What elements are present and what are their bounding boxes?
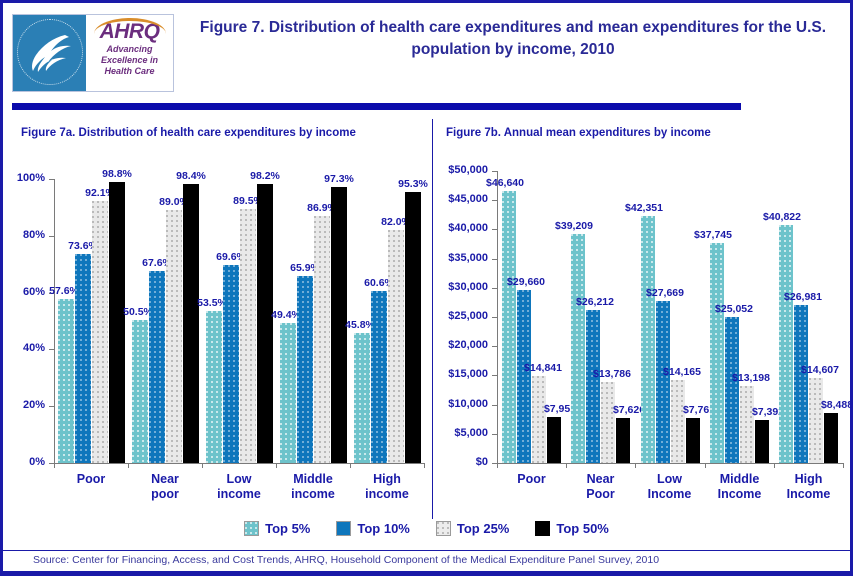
bar-value-label: $39,209	[547, 220, 601, 232]
y-axis-tick-label: $50,000	[435, 164, 488, 176]
bar	[280, 323, 296, 463]
bar	[314, 216, 330, 463]
legend-item: Top 50%	[535, 521, 609, 536]
bar	[824, 413, 838, 463]
y-axis-tick-label: $35,000	[435, 252, 488, 264]
x-axis-category-label: Middleincome	[276, 472, 350, 502]
bar	[671, 380, 685, 463]
y-axis-line	[54, 179, 55, 463]
legend-label: Top 10%	[357, 521, 410, 536]
y-axis-tick-label: $5,000	[435, 427, 488, 439]
bar	[166, 210, 182, 463]
y-axis-tick	[492, 200, 497, 201]
bar	[686, 418, 700, 463]
x-axis-tick	[350, 463, 351, 468]
bar	[149, 271, 165, 463]
y-axis-tick-label: 80%	[12, 229, 45, 241]
bar	[547, 417, 561, 463]
x-axis-category-label: MiddleIncome	[705, 472, 774, 502]
bar	[75, 254, 91, 463]
y-axis-tick	[492, 229, 497, 230]
x-axis-category-label: LowIncome	[635, 472, 704, 502]
panel-title-right: Figure 7b. Annual mean expenditures by i…	[446, 127, 711, 139]
bar-value-label: $27,669	[638, 287, 692, 299]
x-axis-tick	[202, 463, 203, 468]
chart-legend: Top 5%Top 10%Top 25%Top 50%	[3, 521, 850, 536]
bar-value-label: $37,745	[686, 229, 740, 241]
legend-swatch-icon	[244, 521, 259, 536]
y-axis-tick-label: 40%	[12, 342, 45, 354]
panel-title-left: Figure 7a. Distribution of health care e…	[21, 127, 356, 139]
bar	[388, 230, 404, 463]
bar	[257, 184, 273, 463]
bar-value-label: $14,841	[516, 362, 570, 374]
bar-value-label: $29,660	[499, 276, 553, 288]
x-axis-tick	[566, 463, 567, 468]
bar	[794, 305, 808, 463]
legend-item: Top 25%	[436, 521, 510, 536]
y-axis-tick	[49, 349, 54, 350]
bar	[710, 243, 724, 463]
ahrq-tagline-line1: Advancing	[86, 44, 173, 55]
x-axis-category-label: Poor	[497, 472, 566, 487]
x-axis-category-label: NearPoor	[566, 472, 635, 502]
legend-label: Top 50%	[556, 521, 609, 536]
bar-value-label: 98.2%	[238, 170, 292, 182]
bar	[517, 290, 531, 463]
plot-area-7a: 0%20%40%60%80%100%57.6%73.6%92.1%98.8%Po…	[12, 149, 430, 519]
ahrq-tagline: Advancing Excellence in Health Care	[86, 44, 173, 77]
y-axis-tick-label: $25,000	[435, 310, 488, 322]
chart-figure-7b: $0$5,000$10,000$15,000$20,000$25,000$30,…	[435, 149, 849, 519]
y-axis-tick-label: $0	[435, 456, 488, 468]
y-axis-tick-label: 0%	[12, 456, 45, 468]
bar	[725, 317, 739, 463]
legend-swatch-icon	[535, 521, 550, 536]
x-axis-tick	[843, 463, 844, 468]
header-divider	[12, 103, 741, 110]
y-axis-tick	[49, 236, 54, 237]
bar-value-label: $40,822	[755, 211, 809, 223]
y-axis-tick-label: $20,000	[435, 339, 488, 351]
y-axis-tick	[492, 317, 497, 318]
y-axis-tick-label: 100%	[12, 172, 45, 184]
y-axis-tick-label: $15,000	[435, 368, 488, 380]
bar	[92, 201, 108, 463]
ahrq-tagline-line3: Health Care	[86, 66, 173, 77]
bar	[206, 311, 222, 463]
bar-value-label: 95.3%	[386, 178, 440, 190]
bar	[240, 209, 256, 463]
bar-value-label: 97.3%	[312, 173, 366, 185]
hhs-bird-icon	[23, 29, 77, 77]
bar	[58, 299, 74, 463]
bar	[183, 184, 199, 463]
legend-swatch-icon	[336, 521, 351, 536]
x-axis-category-label: Nearpoor	[128, 472, 202, 502]
bar-value-label: $42,351	[617, 202, 671, 214]
bar-value-label: $13,198	[724, 372, 778, 384]
y-axis-tick-label: $45,000	[435, 193, 488, 205]
x-axis-category-label: Highincome	[350, 472, 424, 502]
y-axis-tick-label: $10,000	[435, 398, 488, 410]
x-axis-tick	[635, 463, 636, 468]
y-axis-tick-label: 20%	[12, 399, 45, 411]
y-axis-tick	[492, 288, 497, 289]
bar-value-label: 98.8%	[90, 168, 144, 180]
y-axis-tick	[49, 406, 54, 407]
x-axis-tick	[774, 463, 775, 468]
x-axis-category-label: HighIncome	[774, 472, 843, 502]
y-axis-tick	[492, 259, 497, 260]
bar-value-label: $25,052	[707, 303, 761, 315]
ahrq-logo: AHRQ Advancing Excellence in Health Care	[12, 14, 174, 92]
ahrq-wordmark-block: AHRQ Advancing Excellence in Health Care	[86, 15, 173, 91]
figure-title: Figure 7. Distribution of health care ex…	[188, 17, 838, 61]
plot-area-7b: $0$5,000$10,000$15,000$20,000$25,000$30,…	[435, 149, 849, 519]
source-note: Source: Center for Financing, Access, an…	[33, 554, 659, 566]
bar-value-label: $13,786	[585, 368, 639, 380]
bar-value-label: $14,165	[655, 366, 709, 378]
x-axis-tick	[128, 463, 129, 468]
hhs-seal-icon	[13, 15, 86, 91]
bar-value-label: $8,488	[810, 399, 853, 411]
x-axis-tick	[54, 463, 55, 468]
y-axis-line	[497, 171, 498, 463]
bar	[297, 276, 313, 463]
bar	[809, 378, 823, 463]
x-axis-tick	[497, 463, 498, 468]
bar	[109, 182, 125, 463]
footer-divider-bottom	[3, 571, 850, 573]
y-axis-tick	[492, 171, 497, 172]
ahrq-tagline-line2: Excellence in	[86, 55, 173, 66]
legend-item: Top 10%	[336, 521, 410, 536]
footer-divider-top	[3, 550, 850, 551]
x-axis-tick	[705, 463, 706, 468]
bar	[571, 234, 585, 463]
x-axis-tick	[276, 463, 277, 468]
bar	[371, 291, 387, 463]
bar	[601, 382, 615, 463]
figure-page: AHRQ Advancing Excellence in Health Care…	[0, 0, 853, 576]
bar	[586, 310, 600, 463]
x-axis-tick	[424, 463, 425, 468]
bar-value-label: 98.4%	[164, 170, 218, 182]
y-axis-tick	[492, 405, 497, 406]
y-axis-tick	[492, 346, 497, 347]
bar-value-label: $14,607	[793, 364, 847, 376]
bar-value-label: $46,640	[478, 177, 532, 189]
bar	[532, 376, 546, 463]
x-axis-line	[497, 463, 843, 464]
bar	[755, 420, 769, 463]
bar	[740, 386, 754, 463]
y-axis-tick	[492, 375, 497, 376]
bar	[223, 265, 239, 463]
bar-value-label: $26,212	[568, 296, 622, 308]
legend-label: Top 25%	[457, 521, 510, 536]
bar	[502, 191, 516, 463]
legend-label: Top 5%	[265, 521, 310, 536]
y-axis-tick-label: $30,000	[435, 281, 488, 293]
bar-value-label: $26,981	[776, 291, 830, 303]
bar	[616, 418, 630, 463]
page-header: AHRQ Advancing Excellence in Health Care…	[3, 3, 850, 99]
legend-item: Top 5%	[244, 521, 310, 536]
y-axis-tick	[49, 179, 54, 180]
legend-swatch-icon	[436, 521, 451, 536]
x-axis-line	[54, 463, 424, 464]
bar	[656, 301, 670, 463]
bar	[405, 192, 421, 463]
y-axis-tick-label: $40,000	[435, 222, 488, 234]
bar	[641, 216, 655, 463]
x-axis-category-label: Lowincome	[202, 472, 276, 502]
bar	[779, 225, 793, 463]
bar	[132, 320, 148, 463]
x-axis-category-label: Poor	[54, 472, 128, 487]
bar	[354, 333, 370, 463]
y-axis-tick	[492, 434, 497, 435]
chart-figure-7a: 0%20%40%60%80%100%57.6%73.6%92.1%98.8%Po…	[12, 149, 430, 519]
